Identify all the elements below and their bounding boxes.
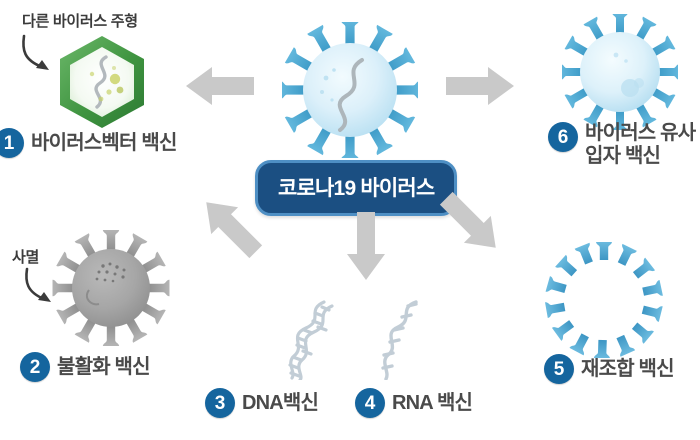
item-5-label: 재조합 백신 bbox=[581, 358, 674, 380]
arrow-left-icon bbox=[186, 64, 254, 108]
gray-inactivated-virus-icon bbox=[52, 230, 170, 346]
item-6-label-row: 6 바이러스 유사 입자 백신 bbox=[548, 122, 695, 168]
annotation-other-virus-template: 다른 바이러스 주형 bbox=[22, 10, 138, 31]
arrow-down-right-icon bbox=[434, 190, 508, 256]
item-5-label-row: 5 재조합 백신 bbox=[544, 354, 674, 384]
spike-protein-ring-icon bbox=[542, 242, 666, 358]
item-1-label: 바이러스벡터 백신 bbox=[31, 132, 177, 154]
arrow-right-icon bbox=[446, 64, 514, 108]
item-1-number-badge: 1 bbox=[0, 128, 24, 158]
item-6-number-badge: 6 bbox=[548, 122, 578, 152]
item-4-number-badge: 4 bbox=[355, 388, 385, 418]
item-2-number-badge: 2 bbox=[20, 352, 50, 382]
item-6-label-line2: 입자 백신 bbox=[585, 145, 695, 168]
item-2-label: 불활화 백신 bbox=[57, 356, 150, 378]
arrow-down-left-icon bbox=[194, 194, 268, 260]
item-3-number-badge: 3 bbox=[205, 388, 235, 418]
virus-like-particle-icon bbox=[562, 14, 678, 130]
vaccine-types-infographic: 다른 바이러스 주형 1 바이러스벡터 백신 bbox=[0, 0, 700, 440]
center-label-coronavirus: 코로나19 바이러스 bbox=[255, 160, 457, 216]
item-4-label: RNA 백신 bbox=[392, 392, 472, 414]
item-6-label-line1: 바이러스 유사 bbox=[585, 122, 695, 145]
item-3-label-row: 3 DNA백신 bbox=[205, 388, 318, 418]
coronavirus-center-icon bbox=[282, 22, 418, 158]
green-hexagon-vector-icon bbox=[52, 32, 152, 132]
item-6-label: 바이러스 유사 입자 백신 bbox=[585, 122, 695, 168]
dna-double-helix-icon bbox=[288, 300, 340, 380]
rna-single-strand-icon bbox=[378, 300, 430, 380]
item-5-number-badge: 5 bbox=[544, 354, 574, 384]
annotation-killed: 사멸 bbox=[12, 246, 39, 267]
item-2-label-row: 2 불활화 백신 bbox=[20, 352, 150, 382]
item-1-label-row: 1 바이러스벡터 백신 bbox=[0, 128, 177, 158]
arrow-down-icon bbox=[344, 212, 388, 280]
item-4-label-row: 4 RNA 백신 bbox=[355, 388, 472, 418]
item-3-label: DNA백신 bbox=[242, 392, 318, 414]
